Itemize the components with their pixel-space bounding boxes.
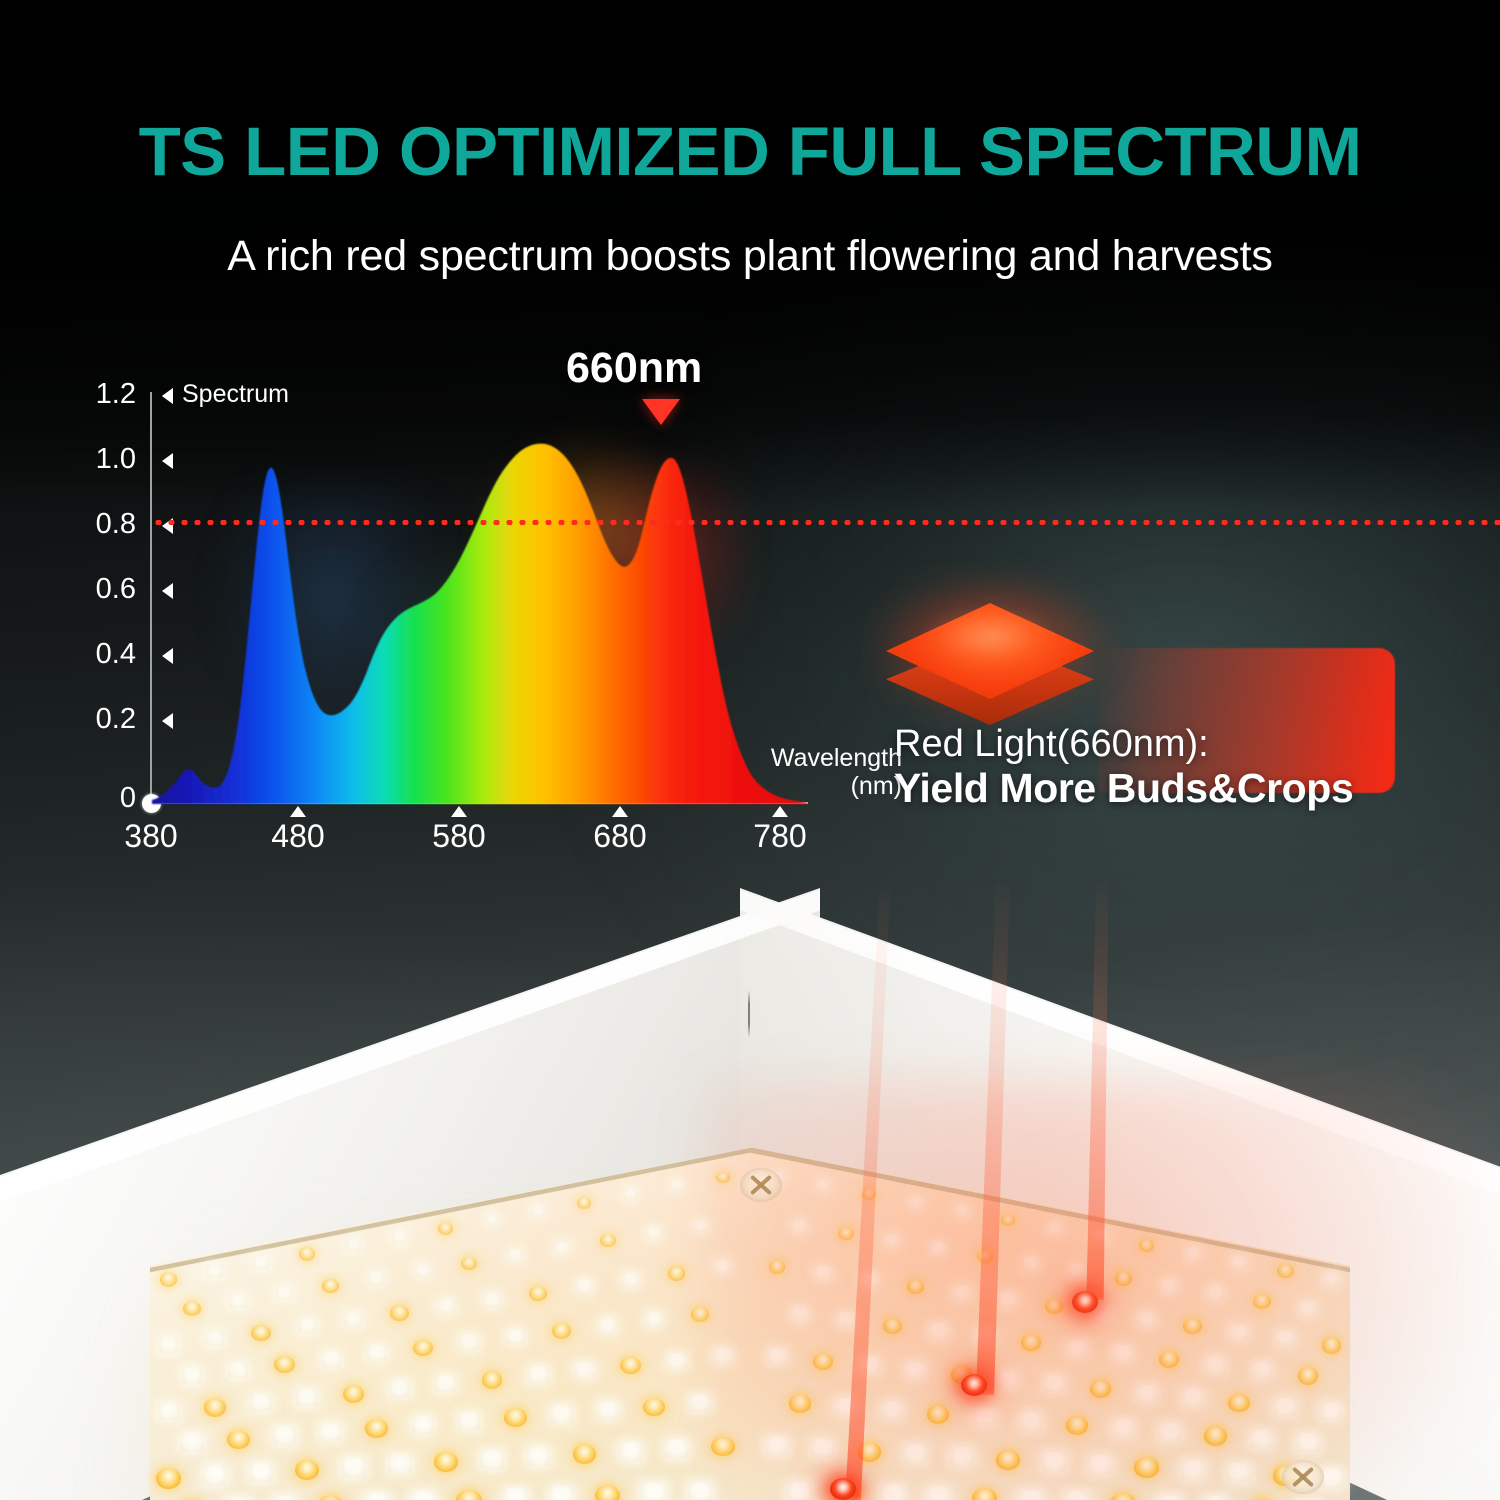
led-grow-panel-photo [0,880,1500,1500]
spectrum-curve [152,392,808,804]
panel-screw-bottom [1282,1460,1324,1494]
x-tick-marker-580 [451,806,467,817]
red-led-diode-3 [1072,1291,1098,1313]
infographic-stage: TS LED OPTIMIZED FULL SPECTRUM A rich re… [0,0,1500,1500]
y-tick-label-1_2: 1.2 [74,378,136,411]
red-led-diode-1 [830,1478,856,1500]
page-subtitle: A rich red spectrum boosts plant floweri… [0,232,1500,281]
y-tick-label-0_6: 0.6 [74,573,136,606]
y-tick-label-0_8: 0.8 [74,508,136,541]
panel-seam-line [748,990,750,1038]
y-tick-label-0: 0 [74,782,136,815]
red-light-callout: Red Light(660nm): Yield More Buds&Crops [870,575,1400,825]
spectrum-chart: 1.2 1.0 0.8 0.6 0.4 0.2 0 Spectrum [78,360,838,870]
x-tick-marker-480 [290,806,306,817]
reference-dotted-line [152,520,1500,525]
y-tick-label-0_2: 0.2 [74,703,136,736]
x-tick-label-380: 380 [91,818,211,855]
y-tick-label-0_4: 0.4 [74,638,136,671]
y-tick-label-1_0: 1.0 [74,443,136,476]
chart-plot-area: 660nm Wavelength (nm) [152,392,808,804]
x-tick-label-780: 780 [720,818,840,855]
red-led-highlight [928,617,1048,663]
x-tick-label-580: 580 [399,818,519,855]
callout-subtitle: Yield More Buds&Crops [894,765,1353,812]
x-tick-label-680: 680 [560,818,680,855]
panel-screw-top [740,1168,782,1202]
x-tick-marker-680 [612,806,628,817]
callout-title: Red Light(660nm): [894,723,1209,766]
page-title: TS LED OPTIMIZED FULL SPECTRUM [0,112,1500,191]
x-tick-label-480: 480 [238,818,358,855]
x-tick-marker-780 [772,806,788,817]
peak-annotation-label: 660nm [566,344,702,393]
red-led-diode-2 [961,1374,987,1396]
